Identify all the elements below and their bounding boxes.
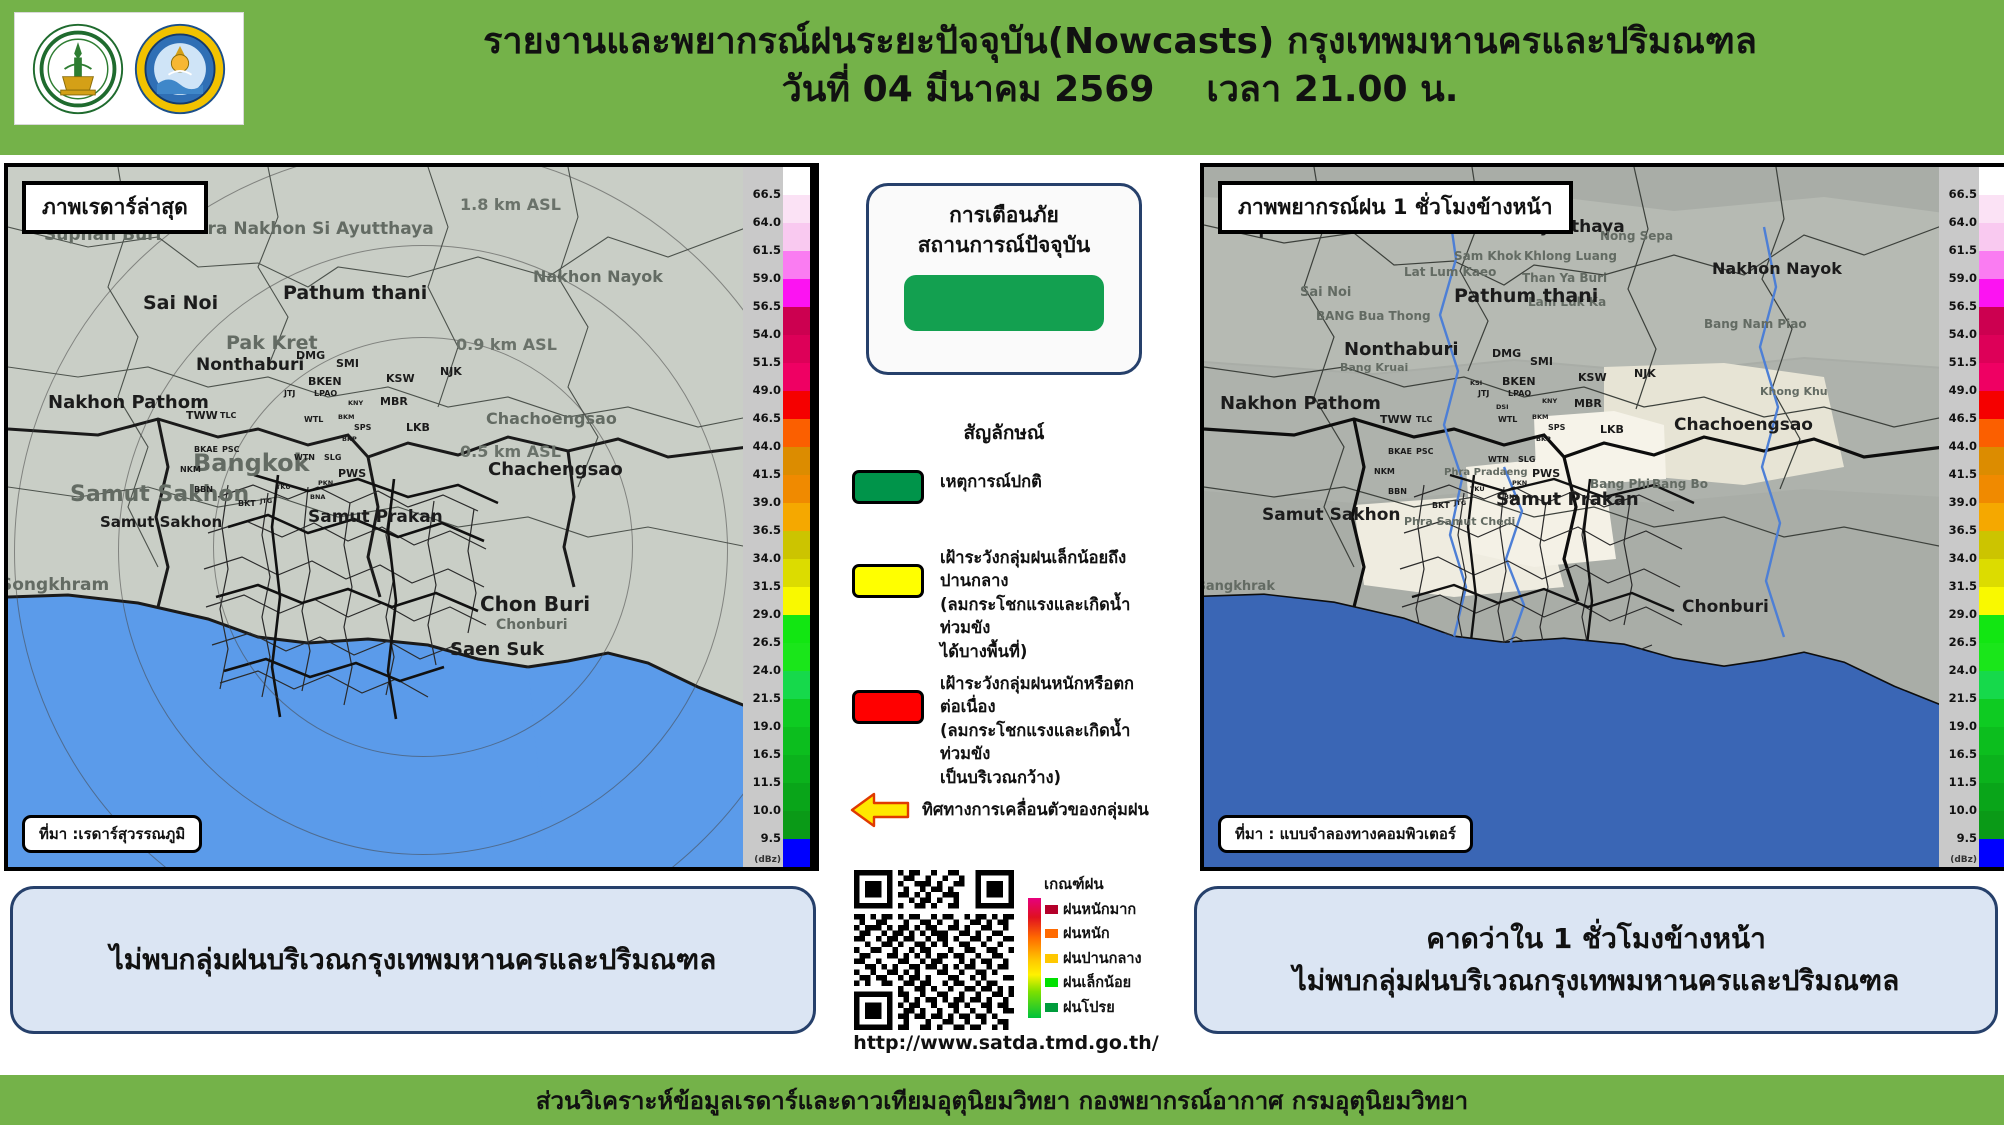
colorbar-tick-19-0: 19.0: [753, 721, 781, 733]
legend-row-yellow: เฝ้าระวังกลุ่มฝนเล็กน้อยถึงปานกลาง (ลมกร…: [852, 546, 1152, 663]
legend-text-normal: เหตุการณ์ปกติ: [940, 470, 1042, 493]
report-datetime: วันที่ 04 มีนาคม 2569เวลา 21.00 น.: [250, 66, 1990, 114]
colorbar-tick-54-0: 54.0: [753, 329, 781, 341]
colorbar-swatch-23: [783, 811, 810, 839]
rain-scale-swatch-2: [1045, 954, 1058, 963]
district-code-bkae: BKAE: [194, 445, 218, 454]
fc-code-njk: NJK: [1634, 367, 1656, 380]
page-footer: ส่วนวิเคราะห์ข้อมูลเรดาร์และดาวเทียมอุตุ…: [0, 1075, 2004, 1125]
district-code-psc: PSC: [222, 445, 240, 454]
legend-chip-yellow: [852, 564, 924, 598]
radar-source-badge: ที่มา :เรดาร์สุวรรณภูมิ: [22, 815, 202, 853]
colorbar-swatch-14: [783, 559, 810, 587]
symbol-legend-title: สัญลักษณ์: [866, 418, 1142, 448]
fc-code-lpao: LPAO: [1508, 389, 1531, 398]
colorbar-tick-labels: 66.564.061.559.056.554.051.549.046.544.0…: [743, 167, 783, 867]
colorbar-tick-9-5: 9.5: [1957, 833, 1977, 845]
colorbar-swatch-9: [1979, 419, 2004, 447]
fc-code-smi: SMI: [1530, 355, 1553, 368]
district-code-jtj: JTJ: [284, 389, 295, 398]
colorbar-swatch-16: [1979, 615, 2004, 643]
fc-code-bken: BKEN: [1502, 375, 1536, 388]
colorbar-swatches: [783, 167, 815, 867]
fc-code-jtj: JTJ: [1478, 389, 1489, 398]
colorbar-swatch-12: [783, 503, 810, 531]
colorbar-swatch-1: [1979, 195, 2004, 223]
fc-code-pws: PWS: [1532, 467, 1560, 480]
rain-scale-item-3: ฝนเล็กน้อย: [1045, 972, 1142, 994]
colorbar-swatch-10: [783, 447, 810, 475]
colorbar-tick-51-5: 51.5: [1949, 357, 1977, 369]
colorbar-tick-24-0: 24.0: [1949, 665, 1977, 677]
forecast-colorbar: 66.564.061.559.056.554.051.549.046.544.0…: [1939, 167, 2004, 867]
colorbar-swatch-1: [783, 195, 810, 223]
colorbar-swatch-2: [1979, 223, 2004, 251]
district-code-njk: NJK: [440, 365, 462, 378]
fc-code-kny: KNY: [1542, 397, 1557, 405]
fc-code-sps: SPS: [1548, 423, 1565, 432]
colorbar-tick-29-0: 29.0: [1949, 609, 1977, 621]
colorbar-tick-39-0: 39.0: [1949, 497, 1977, 509]
district-code-slg: SLG: [324, 453, 341, 462]
rain-scale-items: ฝนหนักมากฝนหนักฝนปานกลางฝนเล็กน้อยฝนโปรย: [1045, 898, 1142, 1018]
colorbar-swatch-13: [1979, 531, 2004, 559]
colorbar-swatch-5: [783, 307, 810, 335]
fc-code-bbn: BBN: [1388, 487, 1407, 496]
colorbar-swatch-11: [1979, 475, 2004, 503]
colorbar-tick-39-0: 39.0: [753, 497, 781, 509]
colorbar-tick-44-0: 44.0: [1949, 441, 1977, 453]
colorbar-tick-61-5: 61.5: [753, 245, 781, 257]
district-code-ksw: KSW: [386, 372, 415, 385]
legend-text-yellow: เฝ้าระวังกลุ่มฝนเล็กน้อยถึงปานกลาง (ลมกร…: [940, 546, 1152, 663]
colorbar-tick-41-5: 41.5: [1949, 469, 1977, 481]
right-caption-box: คาดว่าใน 1 ชั่วโมงข้างหน้า ไม่พบกลุ่มฝนบ…: [1194, 886, 1998, 1034]
colorbar-swatch-19: [783, 699, 810, 727]
colorbar-tick-41-5: 41.5: [753, 469, 781, 481]
asl-label-1: 1.8 km ASL: [460, 195, 561, 214]
radar-map-canvas[interactable]: 1.8 km ASL 0.9 km ASL 0.5 km ASL Suphan …: [8, 167, 815, 867]
fc-code-bna: BNA: [1504, 493, 1519, 501]
rain-scale-item-2: ฝนปานกลาง: [1045, 947, 1142, 969]
colorbar-unit: (dBz): [754, 855, 781, 865]
fc-code-tlc: TLC: [1416, 415, 1432, 424]
agency-logos: [14, 12, 244, 125]
forecast-colorbar-unit: (dBz): [1950, 855, 1977, 865]
colorbar-swatch-3: [783, 251, 810, 279]
district-code-bkp: BKP: [342, 435, 357, 443]
rain-scale-label-0: ฝนหนักมาก: [1063, 898, 1136, 921]
page-header: รายงานและพยากรณ์ฝนระยะปัจจุบัน(Nowcasts)…: [0, 0, 2004, 155]
royal-rainmaking-seal-icon: [30, 21, 126, 117]
colorbar-tick-31-5: 31.5: [753, 581, 781, 593]
district-code-bna: BNA: [310, 493, 325, 501]
forecast-map-panel[interactable]: Suphan Buri Phra Nakhon Si Ayutthaya Non…: [1200, 163, 2004, 871]
fc-code-lkb: LKB: [1600, 423, 1624, 436]
colorbar-swatch-21: [1979, 755, 2004, 783]
district-code-bkt: BKT: [238, 499, 256, 508]
colorbar-swatch-24: [1979, 839, 2004, 867]
rain-scale-label-1: ฝนหนัก: [1063, 922, 1110, 945]
fc-code-bkt: BKT: [1432, 501, 1450, 510]
radar-colorbar: 66.564.061.559.056.554.051.549.046.544.0…: [743, 167, 815, 867]
district-code-smi: SMI: [336, 357, 359, 370]
fc-code-tww: TWW: [1380, 413, 1412, 426]
district-code-lkb: LKB: [406, 421, 430, 434]
colorbar-tick-46-5: 46.5: [1949, 413, 1977, 425]
district-code-sps: SPS: [354, 423, 371, 432]
radar-panel-badge: ภาพเรดาร์ล่าสุด: [22, 181, 208, 234]
colorbar-tick-54-0: 54.0: [1949, 329, 1977, 341]
colorbar-tick-49-0: 49.0: [1949, 385, 1977, 397]
rain-scale-item-1: ฝนหนัก: [1045, 923, 1142, 945]
rain-scale-title: เกณฑ์ฝน: [1028, 872, 1142, 896]
fc-code-nkm: NKM: [1374, 467, 1395, 476]
rain-scale-swatch-4: [1045, 1003, 1058, 1012]
colorbar-swatch-11: [783, 475, 810, 503]
district-code-wtn: WTN: [294, 453, 315, 462]
colorbar-tick-51-5: 51.5: [753, 357, 781, 369]
colorbar-tick-49-0: 49.0: [753, 385, 781, 397]
rain-intensity-scale: เกณฑ์ฝน ฝนหนักมากฝนหนักฝนปานกลางฝนเล็กน้…: [1028, 872, 1142, 1018]
colorbar-swatch-18: [783, 671, 810, 699]
colorbar-swatch-0: [783, 167, 810, 195]
fc-code-tku: TKU: [1470, 485, 1485, 493]
colorbar-swatch-6: [783, 335, 810, 363]
district-code-bkm: BKM: [338, 413, 354, 421]
colorbar-tick-21-5: 21.5: [1949, 693, 1977, 705]
warning-title-line2: สถานการณ์ปัจจุบัน: [918, 230, 1091, 260]
colorbar-tick-11-5: 11.5: [1949, 777, 1977, 789]
legend-text-red: เฝ้าระวังกลุ่มฝนหนักหรือตกต่อเนื่อง (ลมก…: [940, 672, 1152, 789]
colorbar-swatch-4: [1979, 279, 2004, 307]
fc-code-bkp: BKP: [1536, 435, 1551, 443]
colorbar-tick-16-5: 16.5: [753, 749, 781, 761]
colorbar-tick-59-0: 59.0: [753, 273, 781, 285]
colorbar-tick-16-5: 16.5: [1949, 749, 1977, 761]
storm-motion-arrow-icon: [848, 790, 912, 830]
radar-range-ring-outer: [14, 167, 815, 867]
district-code-kny: KNY: [348, 399, 363, 407]
rain-scale-swatch-0: [1045, 905, 1058, 914]
colorbar-tick-10-0: 10.0: [753, 805, 781, 817]
qr-code-block[interactable]: [854, 870, 1014, 1030]
district-code-wtl: WTL: [304, 415, 323, 424]
district-code-tku: TKU: [276, 483, 291, 491]
fc-code-ksi: KSI: [1470, 379, 1482, 387]
colorbar-swatch-18: [1979, 671, 2004, 699]
colorbar-tick-56-5: 56.5: [753, 301, 781, 313]
colorbar-swatch-17: [783, 643, 810, 671]
colorbar-swatch-22: [783, 783, 810, 811]
colorbar-tick-46-5: 46.5: [753, 413, 781, 425]
colorbar-tick-19-0: 19.0: [1949, 721, 1977, 733]
colorbar-swatch-2: [783, 223, 810, 251]
colorbar-swatch-15: [1979, 587, 2004, 615]
fc-code-jtg: JTG: [1454, 499, 1466, 507]
colorbar-tick-66-5: 66.5: [1949, 189, 1977, 201]
district-code-bbn: BBN: [194, 485, 213, 494]
report-date: วันที่ 04 มีนาคม 2569: [782, 69, 1155, 110]
colorbar-tick-66-5: 66.5: [753, 189, 781, 201]
legend-chip-red: [852, 690, 924, 724]
colorbar-tick-61-5: 61.5: [1949, 245, 1977, 257]
colorbar-swatch-6: [1979, 335, 2004, 363]
colorbar-swatch-12: [1979, 503, 2004, 531]
district-code-nkm: NKM: [180, 465, 201, 474]
colorbar-swatch-9: [783, 419, 810, 447]
legend-row-red: เฝ้าระวังกลุ่มฝนหนักหรือตกต่อเนื่อง (ลมก…: [852, 672, 1152, 789]
nowcast-report-page: รายงานและพยากรณ์ฝนระยะปัจจุบัน(Nowcasts)…: [0, 0, 2004, 1125]
colorbar-swatch-22: [1979, 783, 2004, 811]
fc-code-slg: SLG: [1518, 455, 1535, 464]
thai-meteorological-department-seal-icon: [132, 21, 228, 117]
qr-code-icon[interactable]: [854, 870, 1014, 1030]
colorbar-swatch-5: [1979, 307, 2004, 335]
colorbar-swatch-24: [783, 839, 810, 867]
legend-row-normal: เหตุการณ์ปกติ: [852, 470, 1152, 504]
colorbar-tick-36-5: 36.5: [1949, 525, 1977, 537]
rain-scale-label-3: ฝนเล็กน้อย: [1063, 971, 1131, 994]
right-caption-line1: คาดว่าใน 1 ชั่วโมงข้างหน้า: [1426, 918, 1766, 960]
colorbar-swatch-3: [1979, 251, 2004, 279]
colorbar-swatch-7: [783, 363, 810, 391]
colorbar-swatch-7: [1979, 363, 2004, 391]
colorbar-tick-31-5: 31.5: [1949, 581, 1977, 593]
fc-code-pkn: PKN: [1512, 479, 1527, 487]
colorbar-swatch-8: [1979, 391, 2004, 419]
colorbar-tick-44-0: 44.0: [753, 441, 781, 453]
colorbar-swatch-13: [783, 531, 810, 559]
rain-scale-swatch-3: [1045, 978, 1058, 987]
fc-code-dsi: DSI: [1496, 403, 1509, 411]
rain-scale-gradient: [1028, 898, 1041, 1018]
asl-label-3: 0.5 km ASL: [460, 442, 561, 461]
report-title: รายงานและพยากรณ์ฝนระยะปัจจุบัน(Nowcasts)…: [250, 18, 1990, 66]
colorbar-tick-59-0: 59.0: [1949, 273, 1977, 285]
fc-code-ksw: KSW: [1578, 371, 1607, 384]
forecast-map-canvas[interactable]: Suphan Buri Phra Nakhon Si Ayutthaya Non…: [1204, 167, 2004, 867]
header-title-block: รายงานและพยากรณ์ฝนระยะปัจจุบัน(Nowcasts)…: [250, 18, 1990, 113]
colorbar-tick-9-5: 9.5: [761, 833, 781, 845]
fc-code-bkae: BKAE: [1388, 447, 1412, 456]
forecast-water: [1204, 167, 1944, 867]
district-code-mbr: MBR: [380, 395, 408, 408]
satda-url-text[interactable]: http://www.satda.tmd.go.th/: [846, 1032, 1166, 1054]
warning-status-indicator[interactable]: [904, 275, 1104, 331]
fc-code-wtl: WTL: [1498, 415, 1517, 424]
colorbar-tick-24-0: 24.0: [753, 665, 781, 677]
colorbar-swatch-19: [1979, 699, 2004, 727]
district-code-lpao: LPAO: [314, 389, 337, 398]
colorbar-swatch-10: [1979, 447, 2004, 475]
legend-chip-green: [852, 470, 924, 504]
colorbar-tick-34-0: 34.0: [1949, 553, 1977, 565]
district-code-pws: PWS: [338, 467, 366, 480]
colorbar-tick-26-5: 26.5: [753, 637, 781, 649]
colorbar-tick-21-5: 21.5: [753, 693, 781, 705]
district-code-jtg: JTG: [260, 497, 272, 505]
colorbar-tick-64-0: 64.0: [753, 217, 781, 229]
colorbar-swatch-0: [1979, 167, 2004, 195]
warning-title-line1: การเตือนภัย: [949, 200, 1059, 230]
fc-code-bkm: BKM: [1532, 413, 1548, 421]
forecast-panel-badge: ภาพพยากรณ์ฝน 1 ชั่วโมงข้างหน้า: [1218, 181, 1573, 234]
colorbar-swatch-15: [783, 587, 810, 615]
fc-code-dmg: DMG: [1492, 347, 1521, 360]
fc-code-psc: PSC: [1416, 447, 1434, 456]
footer-text: ส่วนวิเคราะห์ข้อมูลเรดาร์และดาวเทียมอุตุ…: [536, 1081, 1468, 1120]
rain-scale-label-2: ฝนปานกลาง: [1063, 947, 1142, 970]
right-caption-line2: ไม่พบกลุ่มฝนบริเวณกรุงเทพมหานครและปริมณฑ…: [1293, 960, 1900, 1002]
district-code-dmg: DMG: [296, 349, 325, 362]
colorbar-swatch-16: [783, 615, 810, 643]
district-code-tlc: TLC: [220, 411, 236, 420]
colorbar-tick-11-5: 11.5: [753, 777, 781, 789]
colorbar-swatch-23: [1979, 811, 2004, 839]
rain-scale-body: ฝนหนักมากฝนหนักฝนปานกลางฝนเล็กน้อยฝนโปรย: [1028, 898, 1142, 1018]
fc-code-wtn: WTN: [1488, 455, 1509, 464]
district-code-bken: BKEN: [308, 375, 342, 388]
rain-scale-label-4: ฝนโปรย: [1063, 996, 1115, 1019]
colorbar-swatch-21: [783, 755, 810, 783]
left-caption-line1: ไม่พบกลุ่มฝนบริเวณกรุงเทพมหานครและปริมณฑ…: [110, 939, 717, 981]
legend-row-arrow: ทิศทางการเคลื่อนตัวของกลุ่มฝน: [848, 790, 1168, 830]
colorbar-swatch-14: [1979, 559, 2004, 587]
colorbar-tick-56-5: 56.5: [1949, 301, 1977, 313]
forecast-colorbar-swatches: [1979, 167, 2004, 867]
forecast-source-badge: ที่มา : แบบจำลองทางคอมพิวเตอร์: [1218, 815, 1473, 853]
colorbar-swatch-4: [783, 279, 810, 307]
district-code-pkn: PKN: [318, 479, 333, 487]
colorbar-tick-10-0: 10.0: [1949, 805, 1977, 817]
rain-scale-swatch-1: [1045, 929, 1058, 938]
colorbar-tick-36-5: 36.5: [753, 525, 781, 537]
rain-scale-item-4: ฝนโปรย: [1045, 996, 1142, 1018]
asl-label-2: 0.9 km ASL: [456, 335, 557, 354]
fc-code-mbr: MBR: [1574, 397, 1602, 410]
current-warning-card[interactable]: การเตือนภัย สถานการณ์ปัจจุบัน: [866, 183, 1142, 375]
district-code-tww: TWW: [186, 409, 218, 422]
rain-scale-item-0: ฝนหนักมาก: [1045, 898, 1142, 920]
colorbar-tick-26-5: 26.5: [1949, 637, 1977, 649]
colorbar-tick-64-0: 64.0: [1949, 217, 1977, 229]
left-caption-box: ไม่พบกลุ่มฝนบริเวณกรุงเทพมหานครและปริมณฑ…: [10, 886, 816, 1034]
radar-map-panel[interactable]: 1.8 km ASL 0.9 km ASL 0.5 km ASL Suphan …: [4, 163, 819, 871]
report-time: เวลา 21.00 น.: [1206, 69, 1458, 110]
colorbar-swatch-20: [1979, 727, 2004, 755]
colorbar-swatch-17: [1979, 643, 2004, 671]
forecast-colorbar-tick-labels: 66.564.061.559.056.554.051.549.046.544.0…: [1939, 167, 1979, 867]
legend-text-arrow: ทิศทางการเคลื่อนตัวของกลุ่มฝน: [922, 798, 1149, 821]
colorbar-swatch-20: [783, 727, 810, 755]
colorbar-swatch-8: [783, 391, 810, 419]
colorbar-tick-29-0: 29.0: [753, 609, 781, 621]
colorbar-tick-34-0: 34.0: [753, 553, 781, 565]
